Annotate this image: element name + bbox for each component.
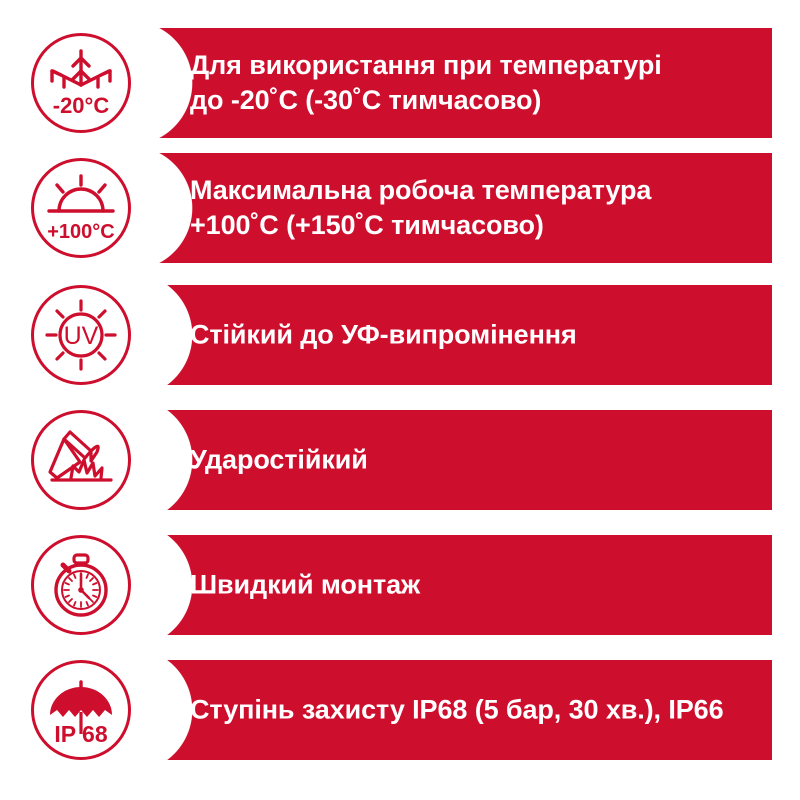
feature-text: Максимальна робоча температура +100˚C (+… — [190, 173, 752, 243]
feature-banner: Швидкий монтаж — [130, 535, 772, 635]
umbrella-icon: IP 68 — [39, 668, 123, 752]
feature-banner: Ступінь захисту IP68 (5 бар, 30 хв.), IP… — [130, 660, 772, 760]
feature-row-quick-installation: Швидкий монтаж — [0, 535, 800, 635]
feature-text: Швидкий монтаж — [190, 567, 752, 602]
sun-heat-icon: +100°C — [39, 166, 123, 250]
uv-sun-icon-badge: UV — [31, 285, 131, 385]
feature-text: Ударостійкий — [190, 442, 752, 477]
feature-banner: Максимальна робоча температура +100˚C (+… — [130, 153, 772, 263]
feature-text: Ступінь захисту IP68 (5 бар, 30 хв.), IP… — [190, 692, 752, 727]
feature-row-ingress-protection: Ступінь захисту IP68 (5 бар, 30 хв.), IP… — [0, 660, 800, 760]
stopwatch-icon-badge — [31, 535, 131, 635]
sun-heat-icon-label: +100°C — [47, 221, 115, 243]
feature-text: Стійкий до УФ-випромінення — [190, 317, 752, 352]
snowflake-icon: -20°C — [39, 41, 123, 125]
uv-sun-icon: UV — [39, 293, 123, 377]
feature-text: Для використання при температурі до -20˚… — [190, 48, 752, 118]
umbrella-icon-label: IP 68 — [54, 721, 107, 747]
snowflake-icon-badge: -20°C — [31, 33, 131, 133]
feature-banner: Для використання при температурі до -20˚… — [130, 28, 772, 138]
stopwatch-icon — [39, 543, 123, 627]
feature-row-max-working-temperature: Максимальна робоча температура +100˚C (+… — [0, 153, 800, 263]
umbrella-icon-badge: IP 68 — [31, 660, 131, 760]
sun-heat-icon-badge: +100°C — [31, 158, 131, 258]
feature-row-impact-resistant: Ударостійкий — [0, 410, 800, 510]
feature-banner: Стійкий до УФ-випромінення — [130, 285, 772, 385]
uv-sun-icon-label: UV — [64, 322, 99, 350]
hammer-impact-icon-badge — [31, 410, 131, 510]
feature-banner: Ударостійкий — [130, 410, 772, 510]
feature-infographic: Для використання при температурі до -20˚… — [0, 0, 800, 800]
feature-row-low-temperature: Для використання при температурі до -20˚… — [0, 28, 800, 138]
feature-row-uv-resistant: Стійкий до УФ-випромінення UV — [0, 285, 800, 385]
snowflake-icon-label: -20°C — [53, 93, 110, 118]
hammer-impact-icon — [39, 418, 123, 502]
